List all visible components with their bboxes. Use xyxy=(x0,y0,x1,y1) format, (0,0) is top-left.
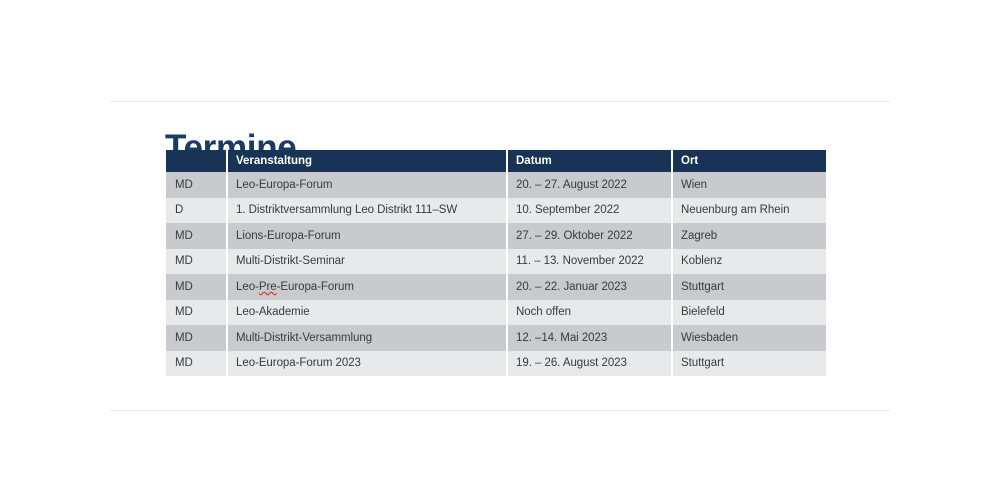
cell-ort: Stuttgart xyxy=(673,274,826,300)
cell-ort: Wiesbaden xyxy=(673,325,826,351)
event-text-suffix: -Europa-Forum xyxy=(277,281,354,293)
cell-datum: Noch offen xyxy=(508,300,673,326)
cell-typ: MD xyxy=(166,300,228,326)
event-text-prefix: Leo- xyxy=(236,281,259,293)
termine-table-container: Veranstaltung Datum Ort MD Leo-Europa-Fo… xyxy=(166,150,826,376)
cell-ort: Bielefeld xyxy=(673,300,826,326)
cell-ort: Zagreb xyxy=(673,223,826,249)
cell-typ: MD xyxy=(166,223,228,249)
cell-datum: 20. – 27. August 2022 xyxy=(508,172,673,198)
cell-typ: MD xyxy=(166,351,228,377)
cell-datum: 20. – 22. Januar 2023 xyxy=(508,274,673,300)
cell-typ: MD xyxy=(166,325,228,351)
table-row: MD Leo-Europa-Forum 20. – 27. August 202… xyxy=(166,172,826,198)
cell-veranstaltung: Leo-Pre-Europa-Forum xyxy=(228,274,508,300)
cell-typ: MD xyxy=(166,172,228,198)
table-row: MD Lions-Europa-Forum 27. – 29. Oktober … xyxy=(166,223,826,249)
table-row: MD Multi-Distrikt-Versammlung 12. –14. M… xyxy=(166,325,826,351)
table-row: MD Multi-Distrikt-Seminar 11. – 13. Nove… xyxy=(166,249,826,275)
cell-ort: Koblenz xyxy=(673,249,826,275)
table-row: MD Leo-Pre-Europa-Forum 20. – 22. Januar… xyxy=(166,274,826,300)
cell-veranstaltung: Lions-Europa-Forum xyxy=(228,223,508,249)
table-header-row: Veranstaltung Datum Ort xyxy=(166,150,826,172)
cell-datum: 11. – 13. November 2022 xyxy=(508,249,673,275)
cell-datum: 19. – 26. August 2023 xyxy=(508,351,673,377)
cell-ort: Wien xyxy=(673,172,826,198)
cell-typ: MD xyxy=(166,249,228,275)
cell-typ: D xyxy=(166,198,228,224)
column-header-typ xyxy=(166,150,228,172)
column-header-ort: Ort xyxy=(673,150,826,172)
table-header: Veranstaltung Datum Ort xyxy=(166,150,826,172)
column-header-datum: Datum xyxy=(508,150,673,172)
termine-table: Veranstaltung Datum Ort MD Leo-Europa-Fo… xyxy=(166,150,826,376)
cell-ort: Neuenburg am Rhein xyxy=(673,198,826,224)
cell-datum: 10. September 2022 xyxy=(508,198,673,224)
event-text-misspelled: Pre xyxy=(259,281,277,293)
cell-veranstaltung: Leo-Europa-Forum xyxy=(228,172,508,198)
top-divider xyxy=(110,101,890,102)
cell-veranstaltung: Multi-Distrikt-Versammlung xyxy=(228,325,508,351)
cell-datum: 27. – 29. Oktober 2022 xyxy=(508,223,673,249)
table-row: D 1. Distriktversammlung Leo Distrikt 11… xyxy=(166,198,826,224)
table-body: MD Leo-Europa-Forum 20. – 27. August 202… xyxy=(166,172,826,376)
cell-datum: 12. –14. Mai 2023 xyxy=(508,325,673,351)
table-row: MD Leo-Europa-Forum 2023 19. – 26. Augus… xyxy=(166,351,826,377)
table-row: MD Leo-Akademie Noch offen Bielefeld xyxy=(166,300,826,326)
page-root: Termine Veranstaltung Datum Ort MD xyxy=(0,0,1000,496)
cell-ort: Stuttgart xyxy=(673,351,826,377)
cell-typ: MD xyxy=(166,274,228,300)
bottom-divider xyxy=(110,410,890,411)
column-header-veranstaltung: Veranstaltung xyxy=(228,150,508,172)
cell-veranstaltung: Leo-Europa-Forum 2023 xyxy=(228,351,508,377)
cell-veranstaltung: Leo-Akademie xyxy=(228,300,508,326)
cell-veranstaltung: 1. Distriktversammlung Leo Distrikt 111–… xyxy=(228,198,508,224)
cell-veranstaltung: Multi-Distrikt-Seminar xyxy=(228,249,508,275)
